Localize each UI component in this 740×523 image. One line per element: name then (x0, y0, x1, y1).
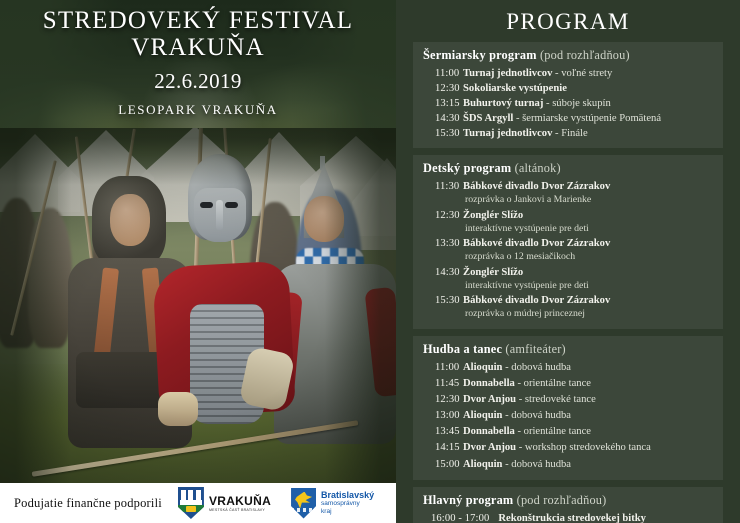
program-name: Bábkové divadlo Dvor Zázrakov (463, 295, 610, 306)
program-name: Žonglér Slížo (463, 210, 523, 221)
program-subtitle: orientálne tance (524, 426, 591, 437)
program-separator: - (513, 113, 522, 124)
logo-vrakuna: VRAKUŇA MESTSKÁ ČASŤ BRATISLAVY (178, 487, 271, 519)
program-entry: Alioquin - dobová hudba (463, 457, 715, 473)
event-place: LESOPARK VRAKUŇA (0, 102, 396, 118)
program-entry: ŠDS Argyll - šermiarske vystúpenie Pomät… (463, 111, 715, 126)
program-entry: Žonglér Slížointeraktívne vystúpenie pre… (463, 208, 715, 236)
program-subtitle: dobová hudba (511, 410, 571, 421)
program-subtitle: šermiarske vystúpenie Pomätená (522, 113, 661, 124)
program-name: Turnaj jednotlivcov (463, 128, 552, 139)
program-name: Dvor Anjou (463, 394, 516, 405)
program-time: 16:00 - 17:00 (423, 511, 498, 523)
program-time: 12:30 (423, 81, 463, 96)
program-description: interaktívne vystúpenie pre deti (463, 280, 715, 293)
program-time: 15:30 (423, 293, 463, 308)
program-name: Alioquin (463, 362, 502, 373)
program-separator: - (502, 410, 511, 421)
program-name: Turnaj jednotlivcov (463, 68, 552, 79)
program-separator: - (552, 128, 561, 139)
program-entry: Dvor Anjou - stredoveké tance (463, 392, 715, 408)
program-row: 14:15Dvor Anjou - workshop stredovekého … (423, 440, 715, 456)
program-name: ŠDS Argyll (463, 113, 513, 124)
program-entry: Sokoliarske vystúpenie (463, 81, 715, 96)
bsk-line-3: kraj (321, 508, 374, 516)
program-time: 11:45 (423, 376, 463, 392)
section-rows: 16:00 - 17:00Rekonštrukcia stredovekej b… (423, 511, 715, 523)
program-entry: Turnaj jednotlivcov - Finále (463, 126, 715, 141)
program-heading: PROGRAM (413, 0, 723, 42)
program-panel: PROGRAM Šermiarsky program (pod rozhľadň… (396, 0, 740, 523)
program-row: 14:30Žonglér Slížointeraktívne vystúpeni… (423, 265, 715, 293)
program-time: 14:15 (423, 440, 463, 456)
program-entry: Alioquin - dobová hudba (463, 360, 715, 376)
program-separator: - (516, 442, 525, 453)
section-name: Hudba a tanec (423, 342, 502, 356)
program-time: 15:30 (423, 126, 463, 141)
program-separator: - (502, 362, 511, 373)
program-name: Donnabella (463, 426, 515, 437)
festival-photo (0, 128, 396, 484)
vrakuna-wordmark: VRAKUŇA MESTSKÁ ČASŤ BRATISLAVY (209, 494, 271, 512)
sponsor-credit-text: Podujatie finančne podporili (14, 496, 162, 511)
program-section: Detský program (altánok)11:30Bábkové div… (413, 155, 723, 329)
program-subtitle: workshop stredovekého tanca (525, 442, 651, 453)
program-entry: Donnabella - orientálne tance (463, 376, 715, 392)
program-time: 15:00 (423, 457, 463, 473)
logo-bratislavsky-kraj: Bratislavský samosprávny kraj (291, 488, 374, 519)
section-header: Hlavný program (pod rozhľadňou) (423, 493, 715, 508)
section-name: Detský program (423, 161, 511, 175)
program-time: 12:30 (423, 392, 463, 408)
program-time: 12:30 (423, 208, 463, 223)
title-line-1: STREDOVEKÝ FESTIVAL (0, 8, 396, 35)
wave-band (291, 508, 316, 512)
program-time: 11:00 (423, 66, 463, 81)
program-row: 14:30ŠDS Argyll - šermiarske vystúpenie … (423, 111, 715, 126)
program-row: 15:00Alioquin - dobová hudba (423, 457, 715, 473)
section-header: Šermiarsky program (pod rozhľadňou) (423, 48, 715, 63)
program-time: 13:45 (423, 424, 463, 440)
event-date: 22.6.2019 (0, 69, 396, 94)
section-rows: 11:30Bábkové divadlo Dvor Zázrakovrozprá… (423, 179, 715, 321)
program-description: rozprávka o 12 mesiačikoch (463, 251, 715, 264)
vrakuna-subtitle: MESTSKÁ ČASŤ BRATISLAVY (209, 508, 271, 512)
program-row: 13:00Alioquin - dobová hudba (423, 408, 715, 424)
program-row: 13:30Bábkové divadlo Dvor Zázrakovrozprá… (423, 236, 715, 264)
section-venue: (altánok) (511, 161, 560, 175)
program-separator: - (516, 394, 525, 405)
program-entry: Buhurtový turnaj - súboje skupín (463, 96, 715, 111)
program-row: 11:30Bábkové divadlo Dvor Zázrakovrozprá… (423, 179, 715, 207)
program-time: 14:30 (423, 265, 463, 280)
program-name: Buhurtový turnaj (463, 98, 543, 109)
sponsor-footer: Podujatie finančne podporili VRAKUŇA MES… (0, 483, 396, 523)
program-entry: Bábkové divadlo Dvor Zázrakovrozprávka o… (463, 293, 715, 321)
program-subtitle: voľné strety (561, 68, 612, 79)
vrakuna-crest-icon (178, 487, 204, 519)
program-row: 11:45Donnabella - orientálne tance (423, 376, 715, 392)
program-name: Alioquin (463, 410, 502, 421)
program-description: interaktívne vystúpenie pre deti (463, 223, 715, 236)
program-time: 14:30 (423, 111, 463, 126)
bsk-shield-icon (291, 488, 316, 519)
section-name: Hlavný program (423, 493, 513, 507)
program-name: Rekonštrukcia stredovekej bitky (498, 513, 646, 523)
program-subtitle: Finále (561, 128, 587, 139)
festival-poster: STREDOVEKÝ FESTIVAL VRAKUŇA 22.6.2019 LE… (0, 0, 740, 523)
program-time: 13:00 (423, 408, 463, 424)
bsk-line-2: samosprávny (321, 500, 374, 508)
program-time: 13:15 (423, 96, 463, 111)
program-description: rozprávka o Jankovi a Marienke (463, 194, 715, 207)
program-separator: - (552, 68, 561, 79)
program-separator: - (543, 98, 552, 109)
section-rows: 11:00Turnaj jednotlivcov - voľné strety1… (423, 66, 715, 141)
program-row: 16:00 - 17:00Rekonštrukcia stredovekej b… (423, 511, 715, 523)
program-entry: Turnaj jednotlivcov - voľné strety (463, 66, 715, 81)
program-entry: Dvor Anjou - workshop stredovekého tanca (463, 440, 715, 456)
program-entry: Žonglér Slížointeraktívne vystúpenie pre… (463, 265, 715, 293)
program-row: 15:30Bábkové divadlo Dvor Zázrakovrozprá… (423, 293, 715, 321)
program-row: 12:30Sokoliarske vystúpenie (423, 81, 715, 96)
program-row: 12:30Žonglér Slížointeraktívne vystúpeni… (423, 208, 715, 236)
program-entry: Bábkové divadlo Dvor Zázrakovrozprávka o… (463, 179, 715, 207)
program-entry: Bábkové divadlo Dvor Zázrakovrozprávka o… (463, 236, 715, 264)
program-description: rozprávka o múdrej princeznej (463, 308, 715, 321)
program-name: Bábkové divadlo Dvor Zázrakov (463, 238, 610, 249)
program-row: 13:15Buhurtový turnaj - súboje skupín (423, 96, 715, 111)
section-venue: (pod rozhľadňou) (537, 48, 630, 62)
bsk-line-1: Bratislavský (321, 490, 374, 500)
program-row: 13:45Donnabella - orientálne tance (423, 424, 715, 440)
program-entry: Donnabella - orientálne tance (463, 424, 715, 440)
program-name: Žonglér Slížo (463, 267, 523, 278)
section-venue: (pod rozhľadňou) (513, 493, 606, 507)
program-name: Donnabella (463, 378, 515, 389)
program-subtitle: súboje skupín (552, 98, 611, 109)
program-subtitle: dobová hudba (511, 362, 571, 373)
program-row: 15:30Turnaj jednotlivcov - Finále (423, 126, 715, 141)
program-name: Dvor Anjou (463, 442, 516, 453)
program-sections: Šermiarsky program (pod rozhľadňou)11:00… (413, 42, 723, 523)
section-name: Šermiarsky program (423, 48, 537, 62)
program-time: 11:00 (423, 360, 463, 376)
program-subtitle: dobová hudba (511, 459, 571, 470)
program-time: 11:30 (423, 179, 463, 194)
title-line-2: VRAKUŇA (0, 35, 396, 62)
section-venue: (amfiteáter) (502, 342, 566, 356)
program-section: Hlavný program (pod rozhľadňou)16:00 - 1… (413, 487, 723, 523)
poster-left-panel: STREDOVEKÝ FESTIVAL VRAKUŇA 22.6.2019 LE… (0, 0, 396, 523)
program-name: Sokoliarske vystúpenie (463, 83, 567, 94)
program-section: Šermiarsky program (pod rozhľadňou)11:00… (413, 42, 723, 148)
section-header: Hudba a tanec (amfiteáter) (423, 342, 715, 357)
program-section: Hudba a tanec (amfiteáter)11:00Alioquin … (413, 336, 723, 480)
program-time: 13:30 (423, 236, 463, 251)
program-subtitle: orientálne tance (524, 378, 591, 389)
program-row: 11:00Turnaj jednotlivcov - voľné strety (423, 66, 715, 81)
photo-vignette (0, 128, 396, 484)
program-separator: - (515, 378, 524, 389)
poster-title-block: STREDOVEKÝ FESTIVAL VRAKUŇA 22.6.2019 LE… (0, 8, 396, 118)
program-row: 12:30Dvor Anjou - stredoveké tance (423, 392, 715, 408)
bsk-wordmark: Bratislavský samosprávny kraj (321, 490, 374, 516)
vrakuna-name: VRAKUŇA (209, 494, 271, 508)
program-entry: Alioquin - dobová hudba (463, 408, 715, 424)
program-name: Alioquin (463, 459, 502, 470)
program-name: Bábkové divadlo Dvor Zázrakov (463, 181, 610, 192)
program-separator: - (502, 459, 511, 470)
crown-icon (186, 506, 196, 512)
section-rows: 11:00Alioquin - dobová hudba11:45Donnabe… (423, 360, 715, 473)
program-entry: Rekonštrukcia stredovekej bitky (498, 511, 715, 523)
program-separator: - (515, 426, 524, 437)
section-header: Detský program (altánok) (423, 161, 715, 176)
program-subtitle: stredoveké tance (525, 394, 596, 405)
program-row: 11:00Alioquin - dobová hudba (423, 360, 715, 376)
